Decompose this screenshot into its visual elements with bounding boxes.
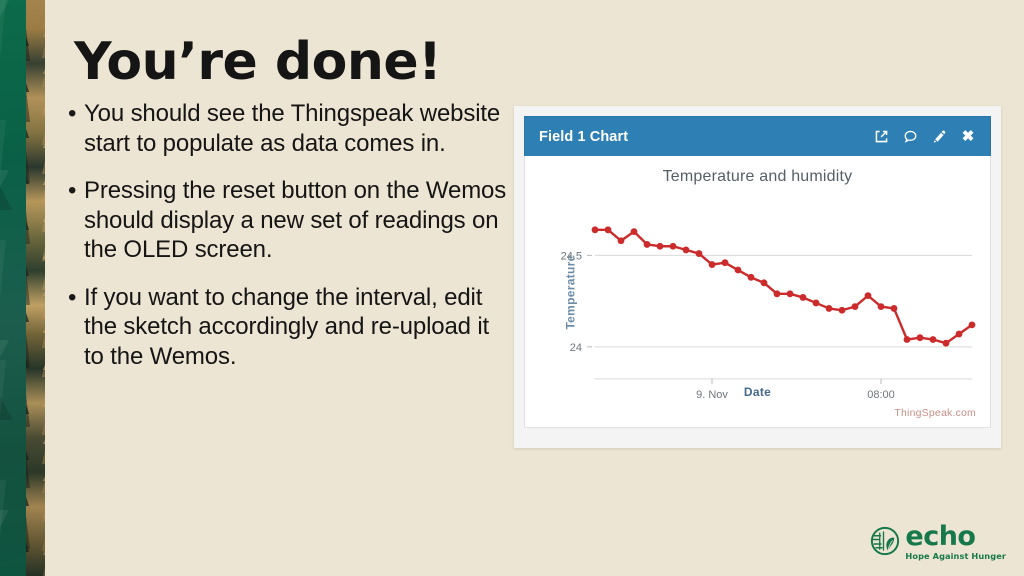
svg-text:24: 24 [570, 342, 582, 354]
edge-green-band [0, 0, 26, 576]
bullet-text: You should see the Thingspeak website st… [84, 99, 508, 158]
echo-wordmark: echo [905, 523, 1006, 550]
list-item: • Pressing the reset button on the Wemos… [68, 176, 508, 265]
comment-icon[interactable] [902, 129, 918, 145]
page-title: You’re done! [74, 36, 508, 89]
slide-content: You’re done! • You should see the Things… [68, 36, 508, 389]
panel-action-buttons: ✖ [873, 129, 976, 145]
slide-left-edge-decoration [0, 0, 45, 576]
bullet-list: • You should see the Thingspeak website … [68, 99, 508, 371]
bullet-marker-icon: • [68, 176, 84, 205]
echo-globe-leaf-icon [870, 526, 900, 556]
bullet-text: If you want to change the interval, edit… [84, 283, 508, 372]
bullet-marker-icon: • [68, 283, 84, 312]
svg-text:08:00: 08:00 [867, 389, 895, 401]
panel-header: Field 1 Chart ✖ [524, 116, 991, 156]
chart-plot: 2424.59. Nov08:0016:00 [525, 156, 990, 427]
bullet-text: Pressing the reset button on the Wemos s… [84, 176, 508, 265]
echo-tagline: Hope Against Hunger [905, 552, 1006, 560]
thingspeak-chart-panel: Field 1 Chart ✖ [514, 106, 1001, 448]
svg-text:24.5: 24.5 [561, 250, 582, 262]
bullet-marker-icon: • [68, 99, 84, 128]
edit-icon[interactable] [931, 129, 947, 145]
edge-photo-band [26, 0, 45, 576]
panel-title: Field 1 Chart [539, 129, 873, 145]
echo-logo: echo Hope Against Hunger [870, 523, 1006, 560]
chart-container: Temperature and humidity Temperature Dat… [524, 156, 991, 428]
external-link-icon[interactable] [873, 129, 889, 145]
list-item: • If you want to change the interval, ed… [68, 283, 508, 372]
close-icon[interactable]: ✖ [960, 129, 976, 145]
list-item: • You should see the Thingspeak website … [68, 99, 508, 158]
svg-text:9. Nov: 9. Nov [696, 389, 728, 401]
